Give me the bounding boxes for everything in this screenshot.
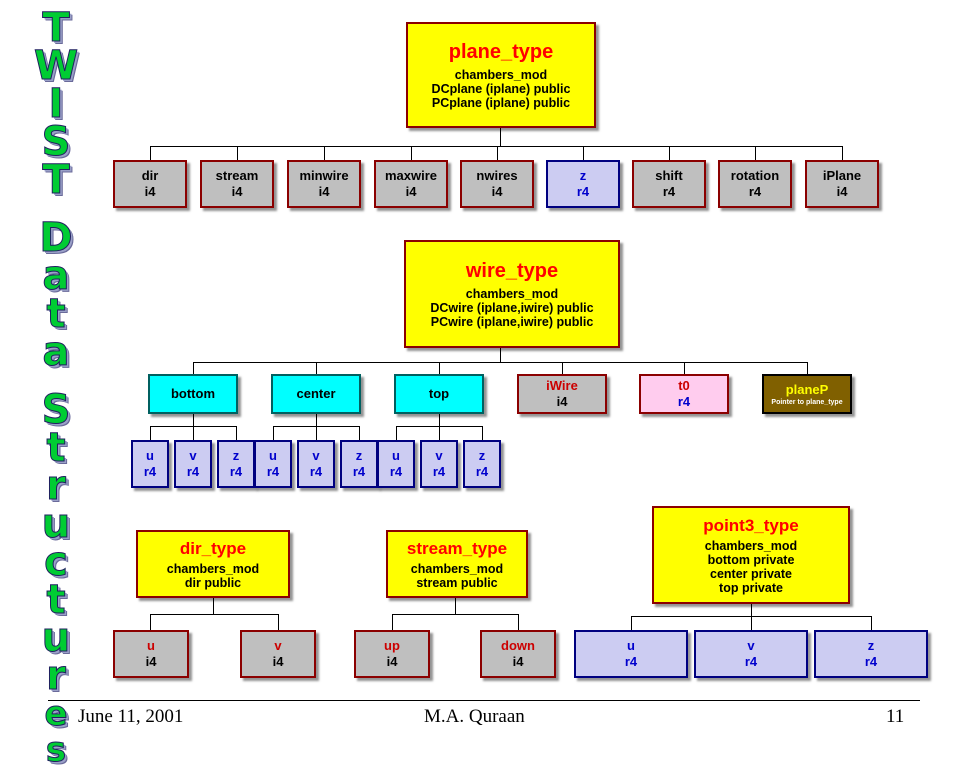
connector: [193, 362, 194, 374]
title-char-T: T: [18, 8, 94, 48]
field-z[interactable]: z r4: [546, 160, 620, 208]
connector: [871, 616, 872, 630]
field-nwires[interactable]: nwires i4: [460, 160, 534, 208]
point3-type-line-1: bottom private: [708, 553, 795, 567]
field-stream-name: stream: [216, 168, 259, 184]
connector: [236, 426, 237, 440]
component-type: r4: [353, 464, 365, 480]
field-minwire-type: i4: [319, 184, 330, 200]
component-name: v: [435, 448, 442, 464]
component-bottom-v[interactable]: v r4: [174, 440, 212, 488]
title-char-u: u: [18, 504, 94, 544]
connector: [359, 426, 360, 440]
title-char-u2: u: [18, 618, 94, 658]
field-rotation-name: rotation: [731, 168, 779, 184]
field-planep-name: planeP: [786, 382, 829, 398]
field-rotation-type: r4: [749, 184, 761, 200]
connector: [316, 414, 317, 426]
connector: [439, 426, 440, 440]
title-char-S2: S: [18, 390, 94, 430]
connector: [396, 426, 397, 440]
field-dir-v[interactable]: v i4: [240, 630, 316, 678]
wire-type-line-0: chambers_mod: [466, 287, 558, 301]
field-name: z: [868, 638, 875, 654]
connector: [562, 362, 563, 374]
component-center-v[interactable]: v r4: [297, 440, 335, 488]
title-char-S: S: [18, 122, 94, 162]
title-char-t2: t: [18, 428, 94, 468]
connector-bus: [150, 146, 842, 147]
connector: [278, 614, 279, 630]
connector: [842, 146, 843, 160]
stream-type-line-0: chambers_mod: [411, 562, 503, 576]
field-type: r4: [745, 654, 757, 670]
connector: [150, 614, 151, 630]
connector: [631, 616, 632, 630]
field-type: r4: [865, 654, 877, 670]
node-dir-type[interactable]: dir_type chambers_mod dir public: [136, 530, 290, 598]
connector: [316, 362, 317, 374]
component-name: u: [392, 448, 400, 464]
component-type: r4: [230, 464, 242, 480]
component-type: r4: [144, 464, 156, 480]
field-top-name: top: [429, 386, 449, 402]
connector: [439, 414, 440, 426]
field-nwires-type: i4: [492, 184, 503, 200]
field-type: r4: [625, 654, 637, 670]
wire-type-line-1: DCwire (iplane,iwire) public: [430, 301, 593, 315]
connector: [669, 146, 670, 160]
field-t0[interactable]: t0 r4: [639, 374, 729, 414]
connector: [150, 146, 151, 160]
field-bottom-name: bottom: [171, 386, 215, 402]
footer-page-number: 11: [886, 706, 904, 728]
field-nwires-name: nwires: [476, 168, 517, 184]
component-name: z: [233, 448, 240, 464]
field-iwire[interactable]: iWire i4: [517, 374, 607, 414]
dir-type-line-0: chambers_mod: [167, 562, 259, 576]
field-shift-type: r4: [663, 184, 675, 200]
field-type: i4: [146, 654, 157, 670]
plane-type-title: plane_type: [449, 41, 553, 64]
field-iwire-type: i4: [557, 394, 568, 410]
component-bottom-z[interactable]: z r4: [217, 440, 255, 488]
field-center[interactable]: center: [271, 374, 361, 414]
title-char-I: I: [18, 84, 94, 124]
field-stream-up[interactable]: up i4: [354, 630, 430, 678]
connector: [193, 414, 194, 426]
dir-type-title: dir_type: [180, 539, 246, 559]
field-rotation[interactable]: rotation r4: [718, 160, 792, 208]
field-name: u: [147, 638, 155, 654]
field-iplane[interactable]: iPlane i4: [805, 160, 879, 208]
point3-type-line-2: center private: [710, 567, 792, 581]
title-char-T2: T: [18, 160, 94, 200]
connector: [273, 426, 274, 440]
component-type: r4: [310, 464, 322, 480]
component-top-u[interactable]: u r4: [377, 440, 415, 488]
connector: [751, 604, 752, 616]
field-z-type: r4: [577, 184, 589, 200]
field-shift[interactable]: shift r4: [632, 160, 706, 208]
component-bottom-u[interactable]: u r4: [131, 440, 169, 488]
field-maxwire-type: i4: [406, 184, 417, 200]
component-type: r4: [476, 464, 488, 480]
slide-canvas: T W I S T D a t a S t r u c t u r e s pl…: [0, 0, 960, 768]
node-plane-type[interactable]: plane_type chambers_mod DCplane (iplane)…: [406, 22, 596, 128]
title-char-r: r: [18, 466, 94, 506]
field-point3-z[interactable]: z r4: [814, 630, 928, 678]
connector: [807, 362, 808, 374]
connector: [751, 616, 752, 630]
field-dir-name: dir: [142, 168, 159, 184]
field-center-name: center: [296, 386, 335, 402]
title-char-W: W: [18, 46, 94, 86]
field-stream-type: i4: [232, 184, 243, 200]
component-name: u: [146, 448, 154, 464]
field-shift-name: shift: [655, 168, 682, 184]
title-char-c: c: [18, 542, 94, 582]
point3-type-line-3: top private: [719, 581, 783, 595]
component-top-z[interactable]: z r4: [463, 440, 501, 488]
field-point3-v[interactable]: v r4: [694, 630, 808, 678]
component-type: r4: [267, 464, 279, 480]
connector: [684, 362, 685, 374]
connector: [237, 146, 238, 160]
connector: [439, 362, 440, 374]
component-top-v[interactable]: v r4: [420, 440, 458, 488]
stream-type-line-1: stream public: [416, 576, 497, 590]
component-type: r4: [390, 464, 402, 480]
point3-type-line-0: chambers_mod: [705, 539, 797, 553]
connector: [518, 614, 519, 630]
component-type: r4: [433, 464, 445, 480]
field-dir[interactable]: dir i4: [113, 160, 187, 208]
field-stream[interactable]: stream i4: [200, 160, 274, 208]
field-t0-name: t0: [678, 378, 690, 394]
field-stream-down[interactable]: down i4: [480, 630, 556, 678]
wire-type-line-2: PCwire (iplane,iwire) public: [431, 315, 594, 329]
connector: [324, 146, 325, 160]
connector-bus: [193, 362, 807, 363]
footer-date: June 11, 2001: [78, 706, 183, 728]
field-name: u: [627, 638, 635, 654]
connector: [316, 426, 317, 440]
node-wire-type[interactable]: wire_type chambers_mod DCwire (iplane,iw…: [404, 240, 620, 348]
node-stream-type[interactable]: stream_type chambers_mod stream public: [386, 530, 528, 598]
connector: [392, 614, 393, 630]
field-name: v: [274, 638, 281, 654]
title-char-t: t: [18, 294, 94, 334]
title-char-s: s: [18, 730, 94, 770]
component-name: v: [312, 448, 319, 464]
field-iplane-name: iPlane: [823, 168, 861, 184]
connector: [500, 348, 501, 362]
field-iplane-type: i4: [837, 184, 848, 200]
field-maxwire-name: maxwire: [385, 168, 437, 184]
connector: [193, 426, 194, 440]
field-type: i4: [513, 654, 524, 670]
connector: [213, 598, 214, 614]
component-center-u[interactable]: u r4: [254, 440, 292, 488]
field-dir-u[interactable]: u i4: [113, 630, 189, 678]
title-char-a2: a: [18, 332, 94, 372]
field-iwire-name: iWire: [546, 378, 578, 394]
connector: [455, 598, 456, 614]
footer-author: M.A. Quraan: [424, 706, 525, 728]
plane-type-line-2: PCplane (iplane) public: [432, 96, 570, 110]
wire-type-title: wire_type: [466, 260, 558, 283]
footer-divider: [48, 700, 920, 701]
connector: [482, 426, 483, 440]
vertical-title: T W I S T D a t a S t r u c t u r e s: [18, 8, 98, 698]
connector: [755, 146, 756, 160]
title-char-t3: t: [18, 580, 94, 620]
connector: [500, 128, 501, 146]
field-name: down: [501, 638, 535, 654]
field-z-name: z: [580, 168, 587, 184]
field-minwire-name: minwire: [299, 168, 348, 184]
component-center-z[interactable]: z r4: [340, 440, 378, 488]
node-point3-type[interactable]: point3_type chambers_mod bottom private …: [652, 506, 850, 604]
point3-type-title: point3_type: [703, 516, 798, 536]
field-planep[interactable]: planeP Pointer to plane_type: [762, 374, 852, 414]
connector: [497, 146, 498, 160]
connector-bus: [150, 614, 278, 615]
plane-type-line-1: DCplane (iplane) public: [432, 82, 571, 96]
component-name: v: [189, 448, 196, 464]
field-type: i4: [273, 654, 284, 670]
field-planep-note: Pointer to plane_type: [771, 399, 842, 406]
field-type: i4: [387, 654, 398, 670]
field-bottom[interactable]: bottom: [148, 374, 238, 414]
connector: [411, 146, 412, 160]
stream-type-title: stream_type: [407, 539, 507, 559]
connector-bus: [392, 614, 518, 615]
field-maxwire[interactable]: maxwire i4: [374, 160, 448, 208]
plane-type-line-0: chambers_mod: [455, 68, 547, 82]
component-name: u: [269, 448, 277, 464]
connector: [583, 146, 584, 160]
field-point3-u[interactable]: u r4: [574, 630, 688, 678]
title-char-a: a: [18, 256, 94, 296]
field-name: up: [384, 638, 400, 654]
field-dir-type: i4: [145, 184, 156, 200]
field-name: v: [747, 638, 754, 654]
title-char-r2: r: [18, 656, 94, 696]
component-name: z: [479, 448, 486, 464]
field-top[interactable]: top: [394, 374, 484, 414]
title-char-D: D: [18, 218, 94, 258]
connector: [150, 426, 151, 440]
component-type: r4: [187, 464, 199, 480]
field-minwire[interactable]: minwire i4: [287, 160, 361, 208]
dir-type-line-1: dir public: [185, 576, 241, 590]
component-name: z: [356, 448, 363, 464]
field-t0-type: r4: [678, 394, 690, 410]
